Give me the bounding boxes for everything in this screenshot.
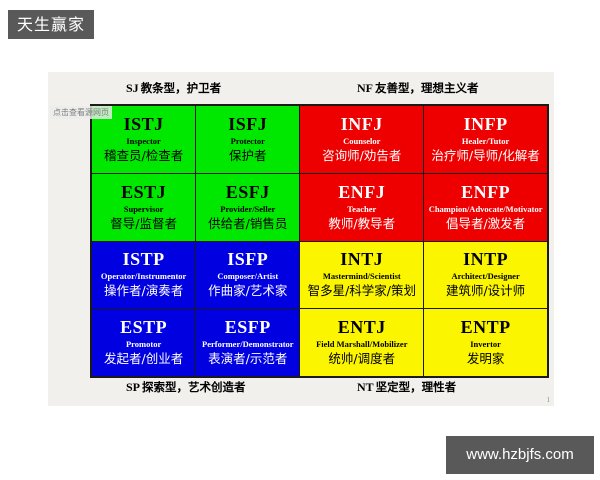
mbti-role-en: Mastermind/Scientist (323, 270, 401, 282)
mbti-role-en: Architect/Designer (451, 270, 519, 282)
quadrant-label-nt-code: NT (357, 380, 376, 394)
mbti-grid: ISTJInspector稽查员/检查者ISFJProtector保护者INFJ… (90, 104, 549, 378)
mbti-role-cn: 表演者/示范者 (208, 351, 287, 367)
mbti-role-en: Protector (231, 135, 265, 147)
quadrant-label-nt-text: 坚定型，理性者 (376, 380, 457, 394)
mbti-cell-istp: ISTPOperator/Instrumentor操作者/演奏者 (92, 242, 195, 309)
mbti-cell-entp: ENTPInvertor发明家 (424, 309, 547, 376)
mbti-cell-enfp: ENFPChampion/Advocate/Motivator倡导者/激发者 (424, 174, 547, 241)
mbti-role-cn: 作曲家/艺术家 (208, 283, 287, 299)
mbti-type-code: ESFJ (226, 183, 270, 202)
site-watermark: www.hzbjfs.com (446, 436, 594, 474)
mbti-type-code: ENFJ (338, 183, 385, 202)
mbti-role-cn: 发明家 (467, 351, 505, 367)
mbti-type-code: INFP (464, 115, 508, 134)
mbti-type-code: ENFP (461, 183, 510, 202)
mbti-type-code: ENTP (461, 318, 511, 337)
mbti-role-cn: 保护者 (229, 148, 267, 164)
mbti-role-en: Invertor (470, 338, 501, 350)
mbti-role-cn: 发起者/创业者 (104, 351, 183, 367)
mbti-role-cn: 稽查员/检查者 (104, 148, 183, 164)
mbti-cell-entj: ENTJField Marshall/Mobilizer统帅/调度者 (300, 309, 423, 376)
mbti-cell-estj: ESTJSupervisor督导/监督者 (92, 174, 195, 241)
mbti-chart-image: SJ教条型，护卫者 NF友善型，理想主义者 SP探索型，艺术创造者 NT坚定型，… (48, 72, 554, 406)
mbti-cell-infp: INFPHealer/Tutor治疗师/导师/化解者 (424, 106, 547, 173)
mbti-role-en: Performer/Demonstrator (202, 338, 294, 350)
source-watermark: 点击查看源网页 (50, 106, 112, 119)
mbti-type-code: ISTJ (124, 115, 164, 134)
quadrant-label-nf-text: 友善型，理想主义者 (375, 81, 479, 95)
mbti-role-en: Promotor (126, 338, 161, 350)
mbti-role-en: Counselor (343, 135, 380, 147)
mbti-cell-estp: ESTPPromotor发起者/创业者 (92, 309, 195, 376)
corner-mark: 1 (547, 396, 551, 404)
mbti-role-cn: 教师/教导者 (328, 216, 395, 232)
mbti-role-en: Champion/Advocate/Motivator (429, 203, 543, 215)
mbti-cell-infj: INFJCounselor咨询师/劝告者 (300, 106, 423, 173)
mbti-cell-enfj: ENFJTeacher教师/教导者 (300, 174, 423, 241)
quadrant-label-nf: NF友善型，理想主义者 (357, 80, 479, 96)
mbti-type-code: INTP (463, 250, 508, 269)
quadrant-label-sj: SJ教条型，护卫者 (126, 80, 221, 96)
mbti-type-code: ESTJ (121, 183, 166, 202)
mbti-role-en: Inspector (126, 135, 160, 147)
mbti-type-code: ESFP (225, 318, 271, 337)
mbti-type-code: ISFP (227, 250, 268, 269)
mbti-role-cn: 督导/监督者 (110, 216, 177, 232)
quadrant-label-sp-text: 探索型，艺术创造者 (142, 380, 246, 394)
mbti-role-cn: 咨询师/劝告者 (322, 148, 401, 164)
mbti-type-code: ENTJ (338, 318, 386, 337)
chart-inner: SJ教条型，护卫者 NF友善型，理想主义者 SP探索型，艺术创造者 NT坚定型，… (48, 72, 554, 406)
mbti-role-en: Healer/Tutor (462, 135, 509, 147)
mbti-role-cn: 智多星/科学家/策划 (308, 283, 416, 299)
mbti-role-en: Composer/Artist (217, 270, 278, 282)
mbti-role-en: Provider/Seller (220, 203, 275, 215)
mbti-cell-isfj: ISFJProtector保护者 (196, 106, 299, 173)
mbti-role-en: Teacher (347, 203, 376, 215)
mbti-role-cn: 统帅/调度者 (328, 351, 395, 367)
mbti-role-en: Operator/Instrumentor (101, 270, 186, 282)
quadrant-label-sj-text: 教条型，护卫者 (141, 81, 222, 95)
mbti-type-code: ISFJ (228, 115, 267, 134)
quadrant-label-sp: SP探索型，艺术创造者 (126, 379, 246, 395)
mbti-role-cn: 倡导者/激发者 (446, 216, 525, 232)
mbti-cell-intj: INTJMastermind/Scientist智多星/科学家/策划 (300, 242, 423, 309)
mbti-type-code: ESTP (120, 318, 167, 337)
mbti-role-cn: 供给者/销售员 (208, 216, 287, 232)
mbti-cell-isfp: ISFPComposer/Artist作曲家/艺术家 (196, 242, 299, 309)
mbti-cell-esfp: ESFPPerformer/Demonstrator表演者/示范者 (196, 309, 299, 376)
mbti-cell-esfj: ESFJProvider/Seller供给者/销售员 (196, 174, 299, 241)
mbti-type-code: ISTP (123, 250, 165, 269)
mbti-type-code: INFJ (341, 115, 383, 134)
mbti-cell-intp: INTPArchitect/Designer建筑师/设计师 (424, 242, 547, 309)
mbti-role-en: Supervisor (124, 203, 164, 215)
quadrant-label-sj-code: SJ (126, 81, 141, 95)
quadrant-label-nf-code: NF (357, 81, 375, 95)
quadrant-label-sp-code: SP (126, 380, 142, 394)
mbti-role-en: Field Marshall/Mobilizer (316, 338, 407, 350)
mbti-role-cn: 操作者/演奏者 (104, 283, 183, 299)
mbti-role-cn: 建筑师/设计师 (446, 283, 525, 299)
quadrant-label-nt: NT坚定型，理性者 (357, 379, 456, 395)
mbti-type-code: INTJ (340, 250, 383, 269)
mbti-role-cn: 治疗师/导师/化解者 (431, 148, 539, 164)
site-brand-badge: 天生赢家 (8, 10, 94, 39)
